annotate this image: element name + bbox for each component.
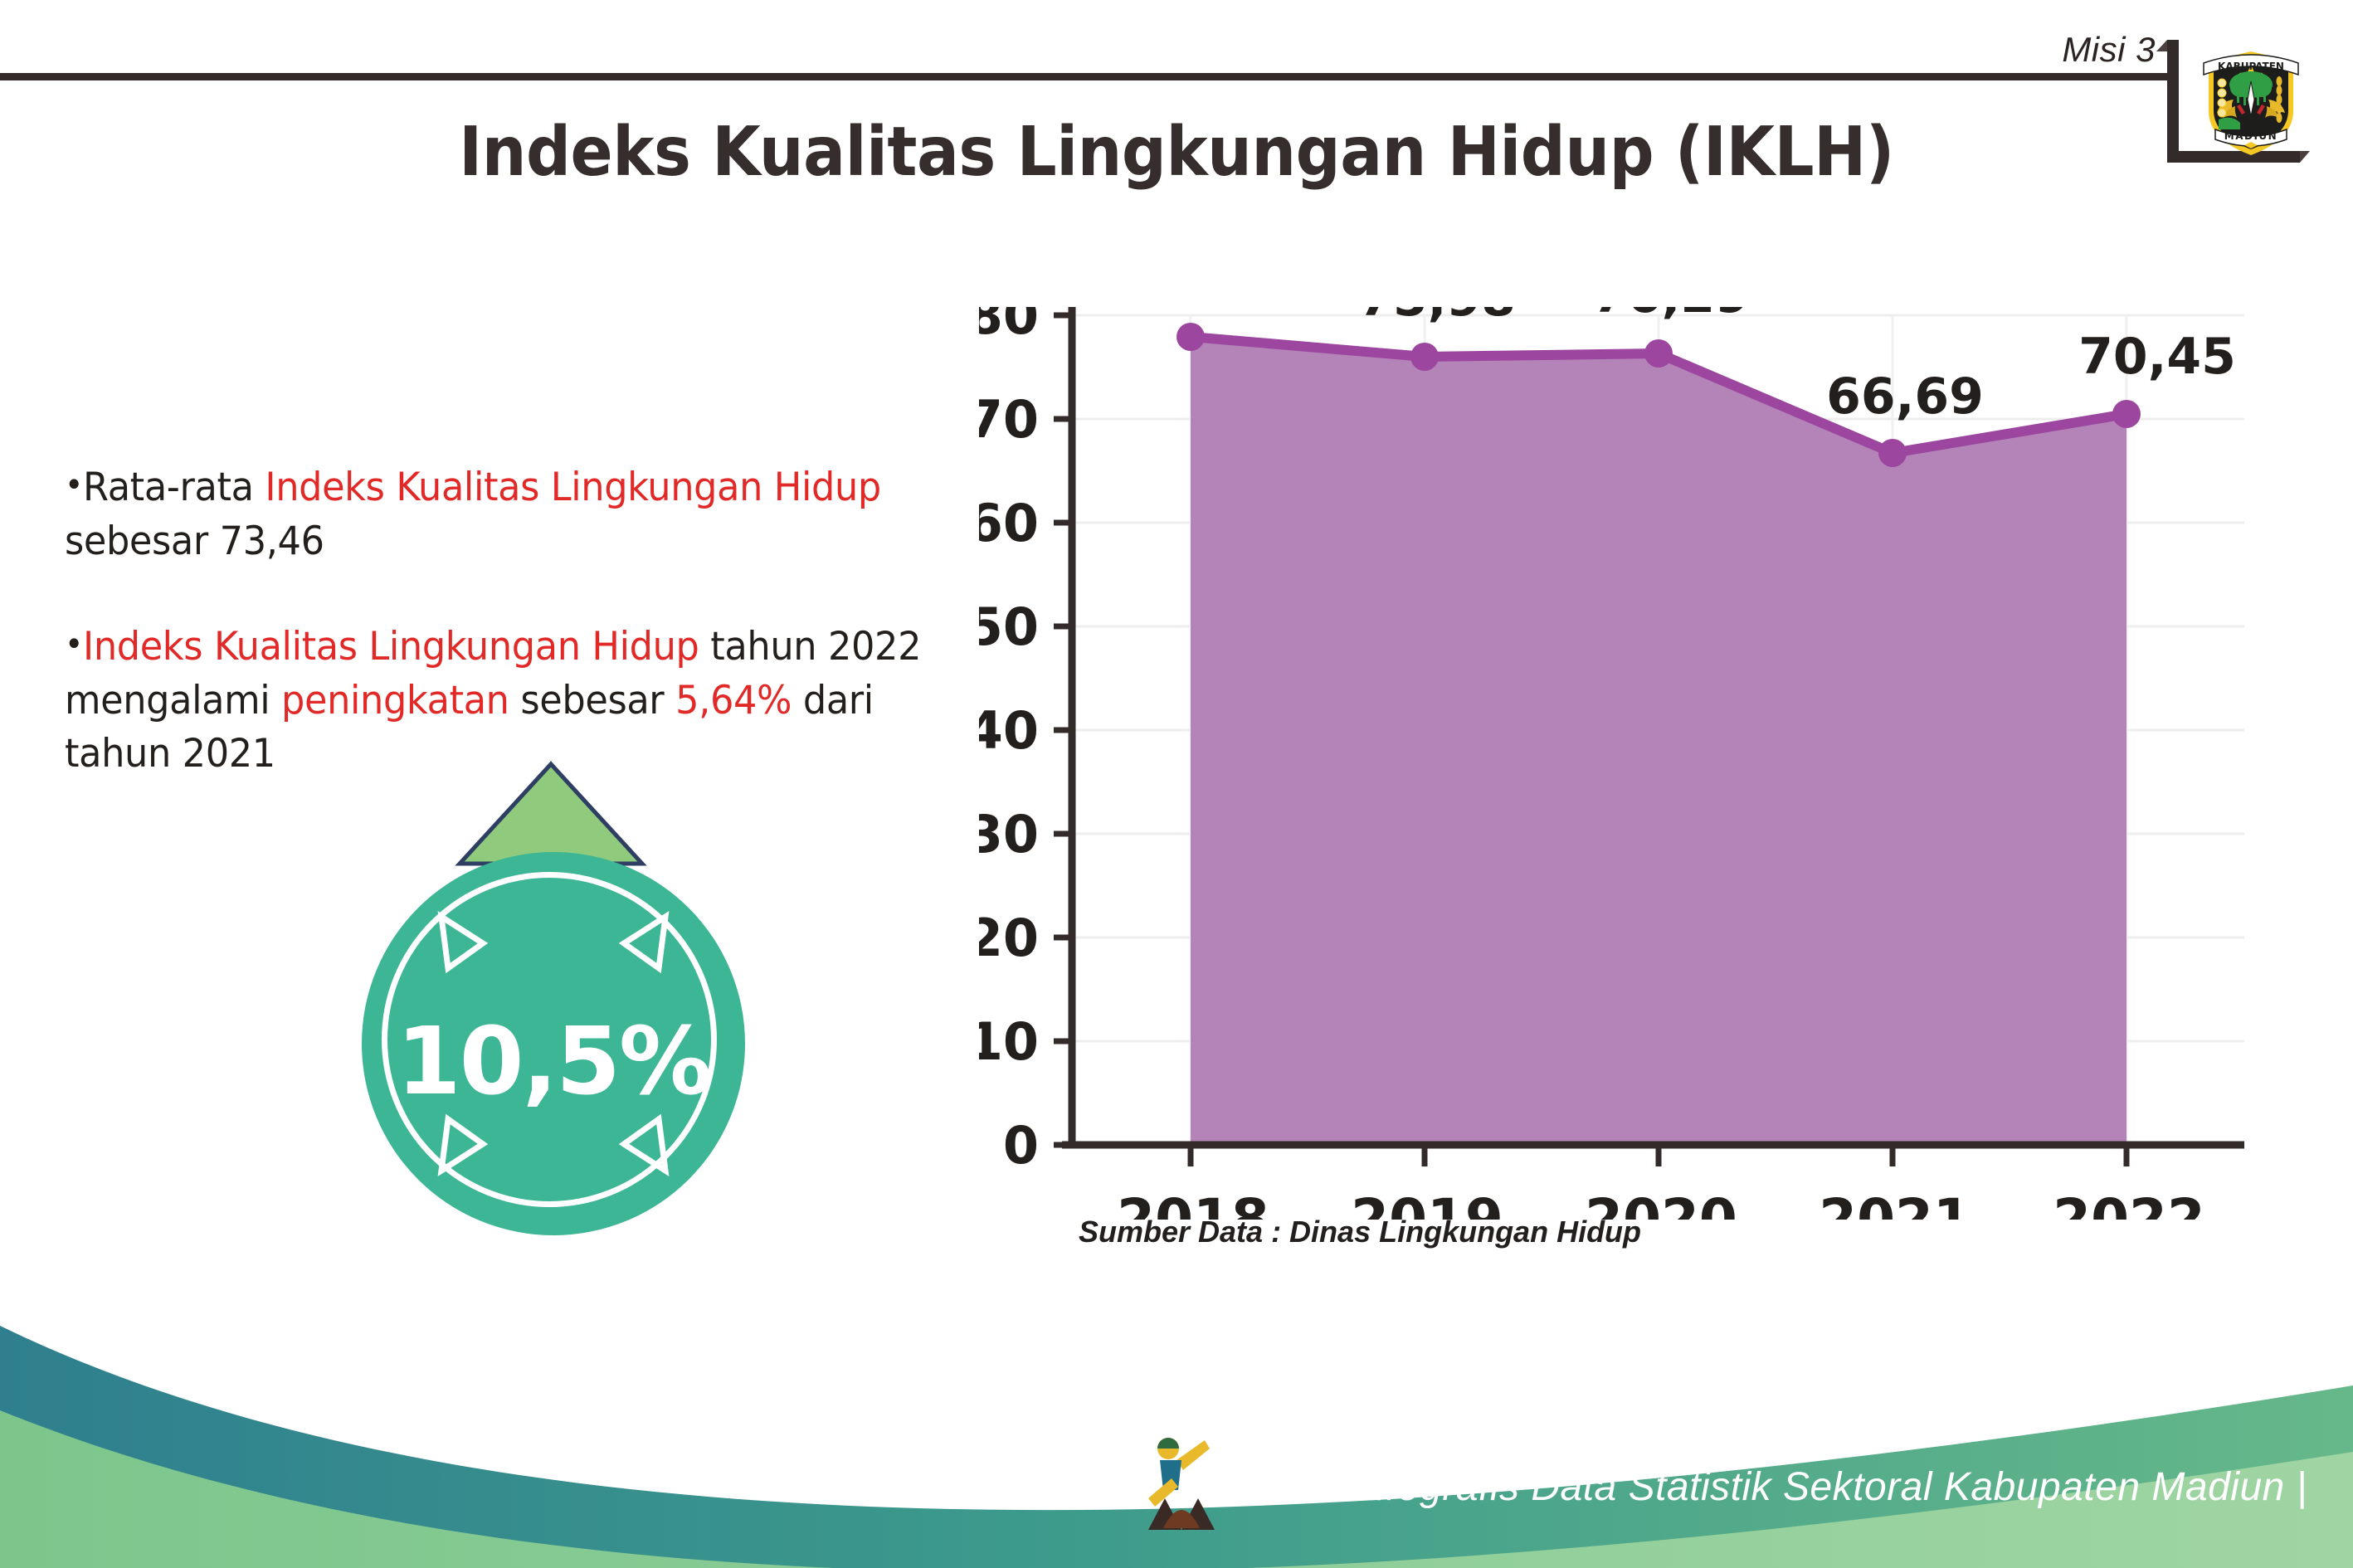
bullet-item-increase: •Indeks Kualitas Lingkungan Hidup tahun … — [65, 621, 948, 782]
bullet-1-part-2: peningkatan — [281, 678, 509, 723]
footer-caption: Media Infografis Data Statistik Sektoral… — [1230, 1464, 2307, 1510]
bullet-dot-icon: • — [65, 466, 83, 504]
logo-top-text: KABUPATEN — [2218, 61, 2284, 72]
iklh-area-chart: 0 10 20 30 40 50 60 70 80 2018 2019 2020… — [979, 307, 2273, 1220]
y-tick-label: 50 — [979, 597, 1039, 657]
increase-badge: 10,5% — [332, 759, 755, 1224]
data-label: 66,69 — [1826, 368, 1984, 426]
data-label: 70,45 — [2078, 328, 2236, 386]
y-tick-label: 70 — [979, 389, 1039, 450]
chart-area-fill — [1191, 337, 2126, 1145]
bullet-1-part-4: 5,64% — [675, 678, 792, 723]
y-tick-label: 30 — [979, 804, 1039, 864]
infographic-page: Misi 3 — [0, 0, 2353, 1568]
chart-source-note: Sumber Data : Dinas Lingkungan Hidup — [1079, 1215, 1641, 1249]
data-label: 76,29 — [1592, 307, 1750, 324]
chart-y-tick-labels: 0 10 20 30 40 50 60 70 80 — [979, 307, 1039, 1176]
page-title: Indeks Kualitas Lingkungan Hidup (IKLH) — [94, 113, 2258, 192]
data-label: 75,98 — [1358, 307, 1516, 328]
header-divider-line — [0, 73, 2171, 80]
y-tick-label: 40 — [979, 700, 1039, 761]
bullet-1-part-3: sebesar — [509, 678, 675, 723]
bullet-list: •Rata-rata Indeks Kualitas Lingkungan Hi… — [65, 461, 994, 782]
y-tick-label: 60 — [979, 493, 1039, 553]
y-tick-label: 20 — [979, 908, 1039, 968]
misi-label: Misi 3 — [2062, 30, 2156, 70]
bullet-0-part-1: Indeks Kualitas Lingkungan Hidup — [265, 465, 880, 510]
bullet-1-part-0: Indeks Kualitas Lingkungan Hidup — [83, 624, 699, 670]
bullet-item-average: •Rata-rata Indeks Kualitas Lingkungan Hi… — [65, 461, 948, 569]
bullet-dot-icon: • — [65, 626, 83, 664]
bullet-0-part-2: sebesar 73,46 — [65, 519, 324, 564]
y-tick-label: 80 — [979, 307, 1039, 346]
y-tick-label: 10 — [979, 1011, 1039, 1072]
y-tick-label: 0 — [1003, 1115, 1039, 1176]
badge-value: 10,5% — [362, 852, 745, 1235]
x-tick-label: 2021 — [1819, 1187, 1971, 1220]
statistics-figure-icon — [1143, 1427, 1220, 1533]
x-tick-label: 2022 — [2053, 1187, 2205, 1220]
bullet-0-part-0: Rata-rata — [83, 465, 265, 510]
